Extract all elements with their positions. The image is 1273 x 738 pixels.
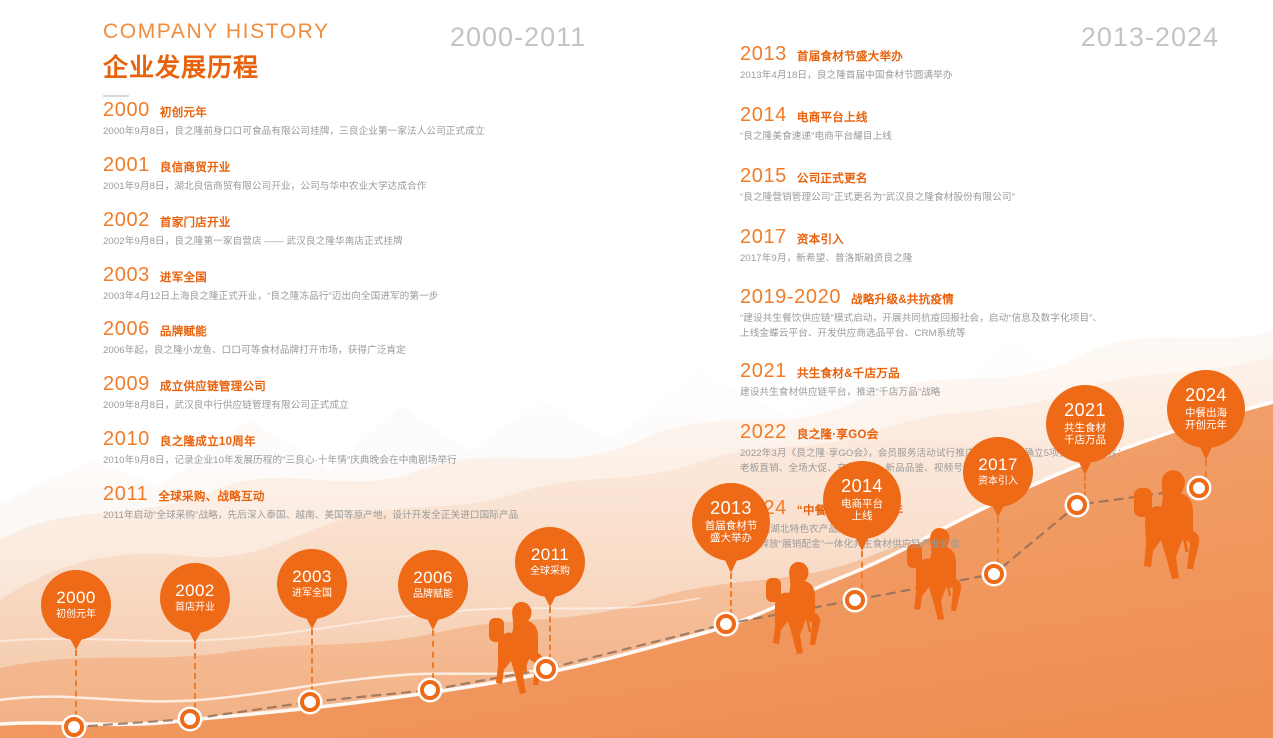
pin-subtitle-label: 全球采购 <box>530 566 570 578</box>
event-title: 进军全国 <box>160 269 207 285</box>
timeline-event: 2001良信商贸开业2001年9月8日，湖北良信商贸有限公司开业，公司与华中农业… <box>103 154 623 195</box>
path-node-marker[interactable] <box>1067 495 1087 515</box>
event-description: 10万吨湖北特色农产品产业园奠基 <box>740 523 1260 538</box>
timeline-event: 2002首家门店开业2002年9月8日，良之隆第一家自营店 —— 武汉良之隆华南… <box>103 209 623 250</box>
pin-year-label: 2002 <box>175 582 214 600</box>
event-description: 2001年9月8日，湖北良信商贸有限公司开业，公司与华中农业大学达成合作 <box>103 180 623 195</box>
event-header: 2002首家门店开业 <box>103 209 623 232</box>
event-header: 2015公司正式更名 <box>740 165 1260 188</box>
event-year: 2022 <box>740 421 787 444</box>
event-description: 2011年启动“全球采购”战略，先后深入泰国、越南、美国等原产地，设计开发全正关… <box>103 509 623 524</box>
event-year: 2010 <box>103 428 150 451</box>
path-node-marker[interactable] <box>420 680 440 700</box>
timeline-event: 2006品牌赋能2006年起，良之隆小龙鱼、口口可等食材品牌打开市场，获得广泛肯… <box>103 318 623 359</box>
event-description: 2017年9月，新希望、普洛斯融资良之隆 <box>740 252 1260 267</box>
event-header: 2009成立供应链管理公司 <box>103 373 623 396</box>
event-year: 2019-2020 <box>740 286 841 309</box>
pin-year-label: 2011 <box>531 546 569 564</box>
event-year: 2013 <box>740 43 787 66</box>
title-divider <box>103 95 129 97</box>
pin-subtitle-label: 首店开业 <box>175 602 215 614</box>
event-title: 首家门店开业 <box>160 214 231 230</box>
pin-balloon: 2000初创元年 <box>41 570 111 640</box>
event-description: 2010年9月8日，记录企业10年发展历程的“三良心·十年情”庆典晚会在中南剧场… <box>103 454 623 469</box>
event-description: 2002年9月8日，良之隆第一家自营店 —— 武汉良之隆华南店正式挂牌 <box>103 235 623 250</box>
pin-year-label: 2003 <box>292 568 331 586</box>
event-year: 2000 <box>103 99 150 122</box>
event-year: 2003 <box>103 264 150 287</box>
timeline-event: 2003进军全国2003年4月12日上海良之隆正式开业，“良之隆冻品行”迈出向全… <box>103 264 623 305</box>
pin-subtitle-label: 中餐出海开创元年 <box>1185 407 1227 432</box>
pin-year-label: 2017 <box>978 456 1017 474</box>
pin-year-label: 2014 <box>841 477 883 496</box>
map-pin-2011[interactable]: 2011全球采购 <box>515 527 585 597</box>
event-year: 2017 <box>740 226 787 249</box>
event-title: 良之隆·享GO会 <box>797 426 879 442</box>
map-pin-2002[interactable]: 2002首店开业 <box>160 563 230 633</box>
event-header: 2010良之隆成立10周年 <box>103 428 623 451</box>
event-list-left: 2000初创元年2000年9月8日，良之隆前身口口可食品有限公司挂牌，三良企业第… <box>103 99 623 538</box>
pin-connector-line <box>75 650 77 727</box>
event-year: 2015 <box>740 165 787 188</box>
event-year: 2002 <box>103 209 150 232</box>
map-pin-2014[interactable]: 2014电商平台上线 <box>823 461 901 539</box>
map-pin-2024[interactable]: 2024中餐出海开创元年 <box>1167 370 1245 448</box>
path-node-marker[interactable] <box>984 564 1004 584</box>
page-title-en: COMPANY HISTORY <box>103 20 330 44</box>
event-description-line2: 全面释放“展销配金”一体化共生食材供应链产业价值 <box>740 538 1260 553</box>
timeline-event: 2017资本引入2017年9月，新希望、普洛斯融资良之隆 <box>740 226 1260 267</box>
event-header: 2000初创元年 <box>103 99 623 122</box>
path-node-marker[interactable] <box>180 709 200 729</box>
pin-subtitle-label: 品牌赋能 <box>413 589 453 601</box>
year-range-left: 2000-2011 <box>450 22 586 53</box>
pin-connector-line <box>194 643 196 719</box>
event-description: 2000年9月8日，良之隆前身口口可食品有限公司挂牌，三良企业第一家法人公司正式… <box>103 125 623 140</box>
map-pin-2003[interactable]: 2003进军全国 <box>277 549 347 619</box>
timeline-infographic: COMPANY HISTORY 企业发展历程 2000-2011 2013-20… <box>0 0 1273 738</box>
pin-balloon: 2003进军全国 <box>277 549 347 619</box>
timeline-event: 2011全球采购、战略互动2011年启动“全球采购”战略，先后深入泰国、越南、美… <box>103 483 623 524</box>
pin-subtitle-label: 进军全国 <box>292 588 332 600</box>
event-description: 2013年4月18日，良之隆首届中国食材节圆满举办 <box>740 69 1260 84</box>
event-title: 良信商贸开业 <box>160 159 231 175</box>
pin-subtitle-label: 共生食材千店万品 <box>1064 422 1106 447</box>
pin-balloon: 2014电商平台上线 <box>823 461 901 539</box>
page-title-block: COMPANY HISTORY 企业发展历程 <box>103 20 330 97</box>
timeline-event: 2009成立供应链管理公司2009年8月8日，武汉良中行供应链管理有限公司正式成… <box>103 373 623 414</box>
path-node-marker[interactable] <box>300 692 320 712</box>
pin-subtitle-label: 首届食材节盛大举办 <box>705 520 758 545</box>
pin-balloon: 2011全球采购 <box>515 527 585 597</box>
map-pin-2021[interactable]: 2021共生食材千店万品 <box>1046 385 1124 463</box>
map-pin-2017[interactable]: 2017资本引入 <box>963 437 1033 507</box>
event-header: 2011全球采购、战略互动 <box>103 483 623 506</box>
event-title: 首届食材节盛大举办 <box>797 48 903 64</box>
event-year: 2021 <box>740 360 787 383</box>
event-description: 2006年起，良之隆小龙鱼、口口可等食材品牌打开市场，获得广泛肯定 <box>103 344 623 359</box>
pin-year-label: 2021 <box>1064 401 1106 420</box>
event-header: 2019-2020战略升级&共抗疫情 <box>740 286 1260 309</box>
event-header: 2017资本引入 <box>740 226 1260 249</box>
path-node-marker[interactable] <box>716 614 736 634</box>
pin-subtitle-label: 初创元年 <box>56 609 96 621</box>
event-title: 电商平台上线 <box>797 109 868 125</box>
pin-balloon: 2024中餐出海开创元年 <box>1167 370 1245 448</box>
pin-balloon: 2021共生食材千店万品 <box>1046 385 1124 463</box>
event-title: 全球采购、战略互动 <box>158 488 264 504</box>
pin-balloon: 2006品牌赋能 <box>398 550 468 620</box>
path-node-marker[interactable] <box>1189 478 1209 498</box>
pin-subtitle-label: 电商平台上线 <box>841 498 883 523</box>
pin-connector-line <box>311 629 313 702</box>
path-node-marker[interactable] <box>845 590 865 610</box>
event-header: 2001良信商贸开业 <box>103 154 623 177</box>
pin-balloon: 2013首届食材节盛大举办 <box>692 483 770 561</box>
pin-balloon: 2017资本引入 <box>963 437 1033 507</box>
pin-year-label: 2013 <box>710 499 752 518</box>
page-title-cn: 企业发展历程 <box>103 48 330 84</box>
event-description: “建设共生餐饮供应链”模式启动，开展共同抗疫回报社会，启动“信息及数字化项目”、 <box>740 312 1260 327</box>
event-description: 2003年4月12日上海良之隆正式开业，“良之隆冻品行”迈出向全国进军的第一步 <box>103 290 623 305</box>
event-description: “良之隆营销管理公司”正式更名为“武汉良之隆食材股份有限公司” <box>740 191 1260 206</box>
pin-year-label: 2006 <box>413 569 452 587</box>
path-node-marker[interactable] <box>64 717 84 737</box>
event-year: 2001 <box>103 154 150 177</box>
event-description-line2: 上线金蝶云平台、开发供应商选品平台、CRM系统等 <box>740 327 1260 342</box>
event-description: “良之隆美食速递”电商平台耀目上线 <box>740 130 1260 145</box>
event-title: 品牌赋能 <box>160 323 207 339</box>
timeline-event: 2014电商平台上线“良之隆美食速递”电商平台耀目上线 <box>740 104 1260 145</box>
event-title: 战略升级&共抗疫情 <box>851 291 954 307</box>
event-title: 良之隆成立10周年 <box>160 433 256 449</box>
event-title: 共生食材&千店万品 <box>797 365 900 381</box>
event-title: 初创元年 <box>160 104 207 120</box>
event-title: 公司正式更名 <box>797 170 868 186</box>
pin-balloon: 2002首店开业 <box>160 563 230 633</box>
event-header: 2003进军全国 <box>103 264 623 287</box>
event-header: 2014电商平台上线 <box>740 104 1260 127</box>
timeline-event: 2015公司正式更名“良之隆营销管理公司”正式更名为“武汉良之隆食材股份有限公司… <box>740 165 1260 206</box>
event-year: 2006 <box>103 318 150 341</box>
pin-year-label: 2000 <box>56 589 95 607</box>
map-pin-2013[interactable]: 2013首届食材节盛大举办 <box>692 483 770 561</box>
pin-year-label: 2024 <box>1185 386 1227 405</box>
event-header: 2006品牌赋能 <box>103 318 623 341</box>
event-header: 2013首届食材节盛大举办 <box>740 43 1260 66</box>
event-year: 2009 <box>103 373 150 396</box>
timeline-event: 2000初创元年2000年9月8日，良之隆前身口口可食品有限公司挂牌，三良企业第… <box>103 99 623 140</box>
map-pin-2006[interactable]: 2006品牌赋能 <box>398 550 468 620</box>
timeline-event: 2019-2020战略升级&共抗疫情“建设共生餐饮供应链”模式启动，开展共同抗疫… <box>740 286 1260 342</box>
path-node-marker[interactable] <box>536 659 556 679</box>
event-year: 2011 <box>103 483 148 506</box>
event-year: 2014 <box>740 104 787 127</box>
event-title: 资本引入 <box>797 231 844 247</box>
timeline-event: 2010良之隆成立10周年2010年9月8日，记录企业10年发展历程的“三良心·… <box>103 428 623 469</box>
event-title: 成立供应链管理公司 <box>160 378 266 394</box>
event-description: 2009年8月8日，武汉良中行供应链管理有限公司正式成立 <box>103 399 623 414</box>
timeline-event: 2013首届食材节盛大举办2013年4月18日，良之隆首届中国食材节圆满举办 <box>740 43 1260 84</box>
pin-subtitle-label: 资本引入 <box>978 476 1018 488</box>
map-pin-2000[interactable]: 2000初创元年 <box>41 570 111 640</box>
